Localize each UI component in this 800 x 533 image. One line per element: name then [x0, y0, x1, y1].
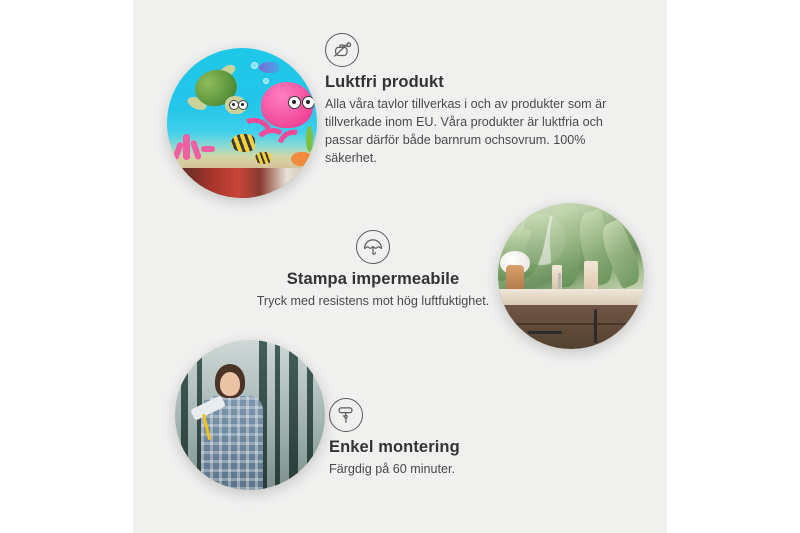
feature-body: Tryck med resistens mot hög luftfuktighe… [213, 293, 533, 311]
feature-easy-installation: Enkel montering Färgdig på 60 minuter. [329, 398, 629, 479]
fish-icon [259, 62, 279, 73]
feature-odour-free: Luktfri produkt Alla våra tavlor tillver… [325, 33, 627, 168]
feature-title: Enkel montering [329, 438, 629, 457]
tree-trunk [275, 340, 280, 490]
underwater-cartoon-scene-thumbnail[interactable] [167, 48, 317, 198]
bubble-icon [263, 78, 269, 84]
umbrella-icon [356, 230, 390, 264]
content-panel: Luktfri produkt Alla våra tavlor tillver… [133, 0, 667, 533]
seaweed-icon [306, 126, 313, 152]
octopus-eye [302, 96, 315, 109]
octopus-eye [288, 96, 301, 109]
cabinet-handle [594, 309, 597, 343]
starfish-icon [291, 152, 311, 166]
image-lower-band [167, 168, 317, 198]
drawer-handle [528, 331, 562, 334]
bubble-icon [251, 62, 258, 69]
tree-trunk [181, 340, 188, 490]
feature-title: Luktfri produkt [325, 73, 627, 92]
drawer-divider [498, 323, 644, 325]
tree-trunk [307, 340, 313, 490]
feature-body: Färgdig på 60 minuter. [329, 461, 629, 479]
woman-paint-roller-forest-thumbnail[interactable] [175, 340, 325, 490]
coral-icon [201, 146, 215, 152]
tree-trunk [289, 340, 298, 490]
turtle-eye [238, 100, 248, 110]
fish-icon [231, 134, 255, 152]
person-face [220, 372, 240, 396]
feature-title: Stampa impermeabile [213, 270, 533, 289]
paint-roller-icon [329, 398, 363, 432]
no-odour-perfume-bottle-icon [325, 33, 359, 67]
fish-icon [255, 152, 271, 164]
feature-body: Alla våra tavlor tillverkas i och av pro… [325, 96, 627, 168]
coral-icon [183, 134, 190, 160]
feature-waterproof-print: Stampa impermeabile Tryck med resistens … [213, 230, 533, 311]
wooden-vanity [498, 305, 644, 349]
